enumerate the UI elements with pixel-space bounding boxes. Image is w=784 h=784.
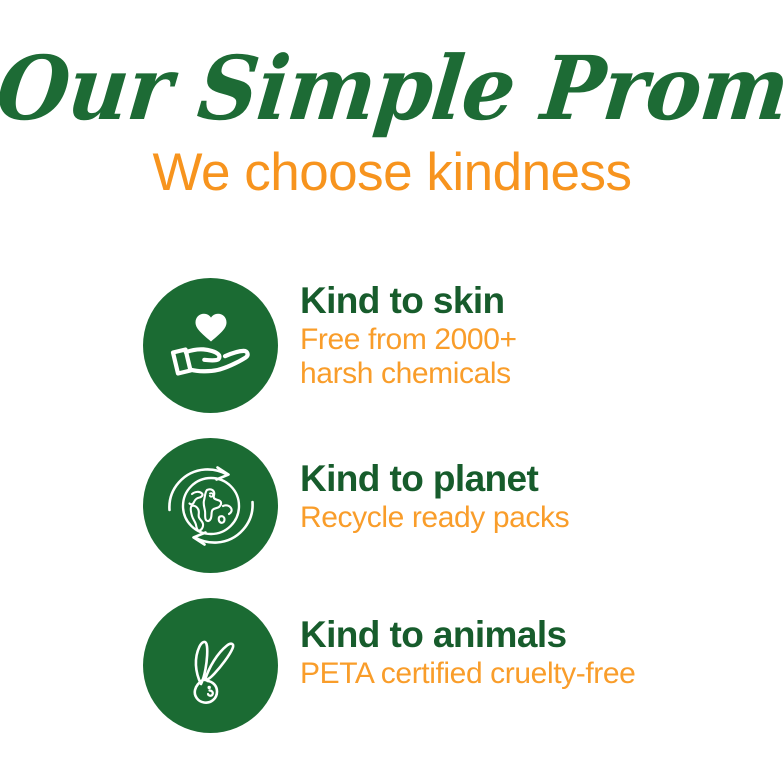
benefit-title-planet: Kind to planet: [300, 458, 763, 499]
benefit-desc-line: Recycle ready packs: [300, 501, 763, 535]
benefit-title-skin: Kind to skin: [300, 280, 763, 321]
hand-holding-heart-icon: [143, 278, 278, 413]
benefit-desc-planet: Recycle ready packs: [300, 499, 763, 535]
bunny-icon: [143, 598, 278, 733]
benefit-item-skin: Kind to skin Free from 2000+ harsh chemi…: [143, 278, 763, 413]
page-subtitle: We choose kindness: [0, 131, 784, 201]
page-title: Our Simple Promise: [0, 0, 784, 135]
benefit-text-animals: Kind to animals PETA certified cruelty-f…: [278, 598, 763, 691]
benefit-text-skin: Kind to skin Free from 2000+ harsh chemi…: [278, 278, 763, 391]
benefit-desc-animals: PETA certified cruelty-free: [300, 655, 763, 691]
benefit-desc-skin: Free from 2000+ harsh chemicals: [300, 321, 763, 391]
benefit-title-animals: Kind to animals: [300, 614, 763, 655]
benefit-item-planet: Kind to planet Recycle ready packs: [143, 438, 763, 573]
benefit-list: Kind to skin Free from 2000+ harsh chemi…: [143, 278, 763, 733]
benefit-desc-line: Free from 2000+: [300, 323, 763, 357]
header: Our Simple Promise We choose kindness: [0, 0, 784, 201]
benefit-desc-line: harsh chemicals: [300, 357, 763, 391]
promise-card: Our Simple Promise We choose kindness Ki…: [0, 0, 784, 784]
benefit-desc-line: PETA certified cruelty-free: [300, 657, 763, 691]
benefit-item-animals: Kind to animals PETA certified cruelty-f…: [143, 598, 763, 733]
globe-recycle-icon: [143, 438, 278, 573]
benefit-text-planet: Kind to planet Recycle ready packs: [278, 438, 763, 535]
